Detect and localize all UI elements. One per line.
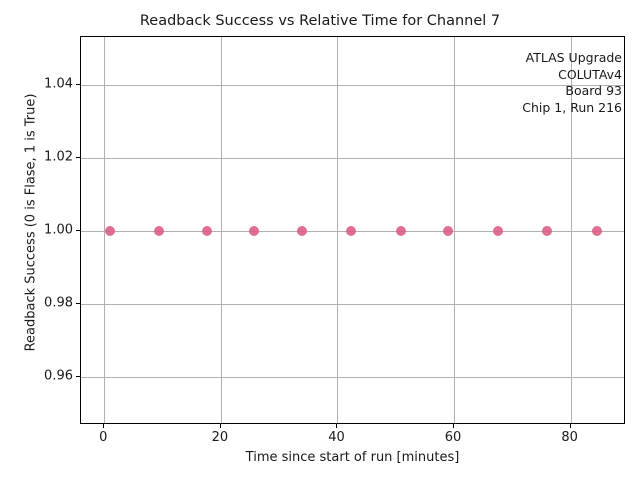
- x-tick-label: 60: [445, 430, 462, 445]
- x-tick-mark: [570, 424, 571, 428]
- chart-figure: Readback Success vs Relative Time for Ch…: [0, 0, 640, 480]
- y-tick-mark: [76, 303, 80, 304]
- annotation-line: ATLAS Upgrade: [522, 50, 622, 67]
- y-tick-mark: [76, 376, 80, 377]
- y-tick-label: 1.00: [44, 223, 73, 238]
- gridline-horizontal: [81, 304, 624, 305]
- data-point: [443, 226, 453, 236]
- gridline-vertical: [221, 37, 222, 423]
- data-point: [297, 226, 307, 236]
- data-point: [249, 226, 259, 236]
- x-tick-label: 20: [212, 430, 229, 445]
- data-point: [542, 226, 552, 236]
- y-tick-mark: [76, 84, 80, 85]
- x-tick-mark: [103, 424, 104, 428]
- data-point: [493, 226, 503, 236]
- gridline-horizontal: [81, 158, 624, 159]
- data-point: [396, 226, 406, 236]
- chart-title: Readback Success vs Relative Time for Ch…: [0, 13, 640, 29]
- gridline-vertical: [454, 37, 455, 423]
- x-tick-label: 40: [328, 430, 345, 445]
- gridline-horizontal: [81, 377, 624, 378]
- x-tick-mark: [220, 424, 221, 428]
- gridline-vertical: [337, 37, 338, 423]
- annotation-experiment-info: ATLAS UpgradeCOLUTAv4Board 93Chip 1, Run…: [522, 50, 622, 116]
- y-axis-label: Readback Success (0 is Flase, 1 is True): [24, 29, 39, 417]
- annotation-line: Board 93: [522, 83, 622, 100]
- y-tick-label: 0.98: [44, 296, 73, 311]
- y-tick-mark: [76, 230, 80, 231]
- x-tick-mark: [453, 424, 454, 428]
- annotation-line: COLUTAv4: [522, 67, 622, 84]
- x-tick-mark: [336, 424, 337, 428]
- y-tick-label: 1.02: [44, 149, 73, 164]
- data-point: [154, 226, 164, 236]
- data-point: [105, 226, 115, 236]
- data-point: [592, 226, 602, 236]
- x-axis-label: Time since start of run [minutes]: [80, 450, 625, 465]
- y-tick-label: 0.96: [44, 369, 73, 384]
- x-tick-label: 0: [99, 430, 107, 445]
- y-tick-label: 1.04: [44, 76, 73, 91]
- y-tick-mark: [76, 157, 80, 158]
- data-point: [346, 226, 356, 236]
- x-tick-label: 80: [561, 430, 578, 445]
- data-point: [202, 226, 212, 236]
- annotation-line: Chip 1, Run 216: [522, 100, 622, 117]
